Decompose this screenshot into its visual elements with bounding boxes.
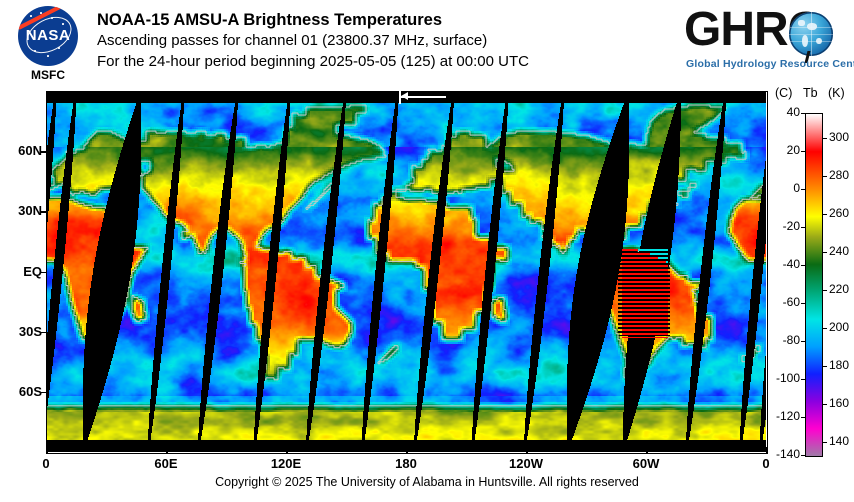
- colorbar-celsius-tick: 0: [766, 181, 800, 195]
- screenshot-root: NASA MSFC NOAA-15 AMSU-A Brightness Temp…: [0, 0, 854, 502]
- colorbar-tick-mark: [801, 189, 806, 190]
- colorbar-kelvin-tick: 260: [829, 206, 854, 220]
- colorbar-kelvin-tick: 160: [829, 396, 854, 410]
- colorbar-variable-label: Tb: [803, 86, 818, 100]
- colorbar-celsius-tick: -40: [766, 257, 800, 271]
- latitude-tick-mark: [40, 151, 46, 153]
- map-plot[interactable]: [46, 91, 766, 452]
- longitude-tick-mark: [406, 447, 408, 453]
- colorbar-celsius-tick: 40: [766, 105, 800, 119]
- colorbar-tick-mark: [822, 176, 827, 177]
- longitude-tick-mark: [166, 447, 168, 453]
- colorbar-tick-mark: [801, 341, 806, 342]
- latitude-tick-label: EQ: [0, 264, 42, 279]
- colorbar-tick-mark: [822, 214, 827, 215]
- longitude-tick-mark: [646, 447, 648, 453]
- colorbar-kelvin-tick: 240: [829, 244, 854, 258]
- longitude-tick-mark: [46, 447, 48, 453]
- longitude-tick-label: 60E: [144, 456, 188, 471]
- colorbar-tick-mark: [822, 252, 827, 253]
- colorbar-kelvin-tick: 220: [829, 282, 854, 296]
- colorbar-tick-mark: [822, 328, 827, 329]
- msfc-label: MSFC: [10, 68, 86, 82]
- subtitle-period: For the 24-hour period beginning 2025-05…: [97, 51, 529, 72]
- colorbar-tick-mark: [801, 379, 806, 380]
- colorbar-celsius-tick: 20: [766, 143, 800, 157]
- colorbar-celsius-tick: -100: [766, 371, 800, 385]
- longitude-tick-label: 120W: [504, 456, 548, 471]
- colorbar-tick-mark: [822, 404, 827, 405]
- colorbar-celsius-tick: -60: [766, 295, 800, 309]
- colorbar-tick-mark: [801, 455, 806, 456]
- longitude-tick-label: 180: [384, 456, 428, 471]
- colorbar-tick-mark: [801, 113, 806, 114]
- colorbar-celsius-tick: -80: [766, 333, 800, 347]
- colorbar-tick-mark: [801, 227, 806, 228]
- latitude-tick-mark: [40, 392, 46, 394]
- ghrc-subtitle: Global Hydrology Resource Center: [686, 58, 854, 70]
- colorbar-tick-mark: [801, 151, 806, 152]
- ghrc-logo: GHRC Global Hydrology Resource Center: [684, 6, 848, 76]
- nasa-logo: NASA MSFC: [10, 6, 86, 84]
- colorbar-unit-kelvin: (K): [828, 86, 845, 100]
- brightness-temperature-heatmap[interactable]: [46, 91, 766, 452]
- globe-icon: [789, 12, 833, 56]
- colorbar-tick-mark: [822, 290, 827, 291]
- colorbar-tick-mark: [822, 366, 827, 367]
- title-block: NOAA-15 AMSU-A Brightness Temperatures A…: [97, 10, 529, 72]
- copyright-notice: Copyright © 2025 The University of Alaba…: [0, 475, 854, 489]
- colorbar-kelvin-tick: 140: [829, 434, 854, 448]
- latitude-tick-mark: [40, 332, 46, 334]
- colorbar-celsius-tick: -140: [766, 447, 800, 461]
- latitude-tick-mark: [40, 211, 46, 213]
- latitude-tick-label: 60N: [0, 143, 42, 158]
- latitude-tick-label: 30S: [0, 324, 42, 339]
- colorbar-kelvin-tick: 200: [829, 320, 854, 334]
- longitude-tick-mark: [526, 447, 528, 453]
- latitude-tick-label: 30N: [0, 203, 42, 218]
- subtitle-channel: Ascending passes for channel 01 (23800.3…: [97, 30, 529, 51]
- colorbar-tick-mark: [822, 138, 827, 139]
- colorbar-unit-celsius: (C): [775, 86, 792, 100]
- colorbar-kelvin-tick: 300: [829, 130, 854, 144]
- colorbar-tick-mark: [822, 442, 827, 443]
- longitude-tick-label: 60W: [624, 456, 668, 471]
- page-title: NOAA-15 AMSU-A Brightness Temperatures: [97, 10, 529, 30]
- colorbar-tick-mark: [801, 417, 806, 418]
- latitude-tick-label: 60S: [0, 384, 42, 399]
- longitude-tick-mark: [286, 447, 288, 453]
- longitude-tick-label: 120E: [264, 456, 308, 471]
- longitude-tick-label: 0: [24, 456, 68, 471]
- colorbar-celsius-tick: -20: [766, 219, 800, 233]
- colorbar-tick-mark: [801, 265, 806, 266]
- colorbar-kelvin-tick: 280: [829, 168, 854, 182]
- colorbar[interactable]: [805, 113, 823, 457]
- colorbar-tick-mark: [801, 303, 806, 304]
- nasa-meatball-icon: NASA: [18, 6, 78, 66]
- nasa-wordmark: NASA: [18, 27, 78, 44]
- colorbar-kelvin-tick: 180: [829, 358, 854, 372]
- swath-start-marker-icon: [399, 88, 449, 104]
- latitude-tick-mark: [40, 272, 46, 274]
- colorbar-celsius-tick: -120: [766, 409, 800, 423]
